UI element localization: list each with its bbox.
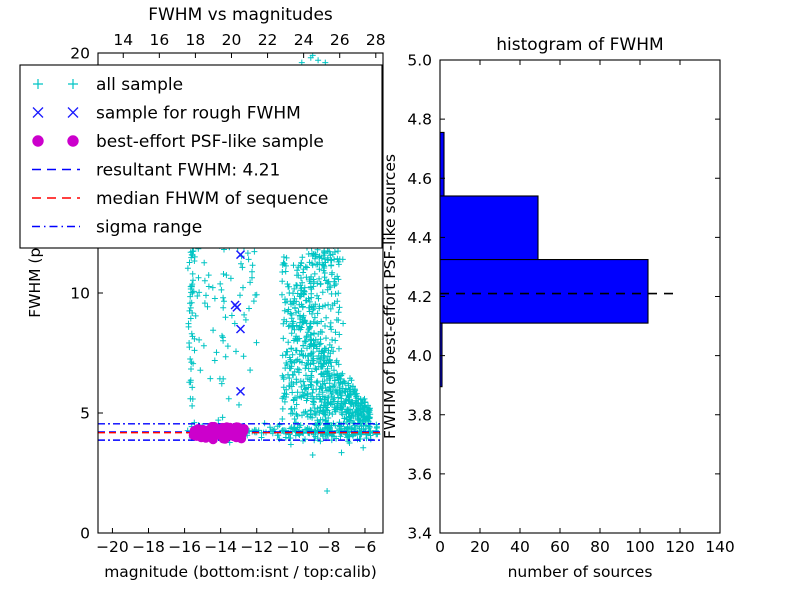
- legend-item-label: best-effort PSF-like sample: [96, 132, 324, 152]
- scatter-xlabel: magnitude (bottom:isnt / top:calib): [104, 563, 377, 581]
- legend-item-label: median FHWM of sequence: [96, 189, 328, 209]
- hist-xticklabel: 140: [705, 538, 735, 556]
- hist-xticklabel: 80: [590, 538, 610, 556]
- histogram-ylabel: FWHM of best-effort PSF-like sources: [381, 154, 399, 439]
- legend-item-label: all sample: [96, 75, 183, 95]
- hist-yticklabel: 4.8: [407, 111, 432, 129]
- scatter-xticklabel: −8: [317, 538, 340, 556]
- scatter-xticklabel: −14: [204, 538, 237, 556]
- scatter-xticklabel: −12: [240, 538, 273, 556]
- hist-xticklabel: 20: [470, 538, 490, 556]
- scatter-top-xticklabel: 28: [366, 31, 386, 49]
- histogram-bar: [440, 260, 648, 324]
- psf-sample-marker: [194, 425, 202, 433]
- scatter-yticklabel: 0: [80, 525, 90, 543]
- scatter-xticklabel: −16: [168, 538, 201, 556]
- hist-yticklabel: 3.4: [407, 525, 432, 543]
- psf-sample-marker: [227, 431, 235, 439]
- hist-yticklabel: 5.0: [407, 52, 432, 70]
- scatter-xticklabel: −18: [132, 538, 165, 556]
- psf-sample-marker: [210, 427, 218, 435]
- histogram-bar: [440, 196, 538, 260]
- scatter-yticklabel: 20: [70, 45, 90, 63]
- hist-yticklabel: 4.4: [407, 229, 432, 247]
- legend-circle-icon: [68, 136, 78, 146]
- scatter-top-xticklabel: 16: [149, 31, 169, 49]
- hist-yticklabel: 4.0: [407, 347, 432, 365]
- scatter-top-xticklabel: 22: [258, 31, 278, 49]
- histogram-title: histogram of FWHM: [496, 35, 663, 55]
- histogram-bar: [440, 132, 444, 196]
- legend-circle-icon: [33, 136, 43, 146]
- hist-xticklabel: 100: [625, 538, 655, 556]
- histogram-panel: 0204060801001201403.43.63.84.04.24.44.64…: [381, 35, 735, 581]
- scatter-top-xticklabel: 14: [113, 31, 133, 49]
- scatter-xticklabel: −10: [276, 538, 309, 556]
- hist-xticklabel: 40: [510, 538, 530, 556]
- histogram-bars: [440, 132, 648, 386]
- scatter-top-xticklabel: 26: [330, 31, 350, 49]
- legend-item-label: sample for rough FWHM: [96, 104, 301, 124]
- hist-yticklabel: 4.2: [407, 288, 432, 306]
- scatter-yticklabel: 5: [80, 405, 90, 423]
- figure-svg: −20−18−16−14−12−10−8−6141618202224262805…: [0, 0, 800, 600]
- scatter-xticklabel: −6: [354, 538, 377, 556]
- psf-sample-marker: [218, 431, 226, 439]
- legend-item-label: resultant FWHM: 4.21: [96, 161, 280, 181]
- hist-xticklabel: 0: [435, 538, 445, 556]
- psf-sample-marker: [197, 433, 205, 441]
- histogram-xlabel: number of sources: [508, 563, 653, 581]
- hist-yticklabel: 3.6: [407, 465, 432, 483]
- hist-yticklabel: 3.8: [407, 406, 432, 424]
- scatter-top-xticklabel: 24: [294, 31, 314, 49]
- scatter-top-xticklabel: 18: [186, 31, 206, 49]
- hist-yticklabel: 4.6: [407, 170, 432, 188]
- scatter-top-xticklabel: 20: [222, 31, 242, 49]
- scatter-xticklabel: −20: [96, 538, 129, 556]
- legend: all samplesample for rough FWHMbest-effo…: [20, 65, 382, 248]
- scatter-yticklabel: 10: [70, 285, 90, 303]
- scatter-title: FWHM vs magnitudes: [148, 5, 333, 25]
- hist-xticklabel: 60: [550, 538, 570, 556]
- figure-canvas: −20−18−16−14−12−10−8−6141618202224262805…: [0, 0, 800, 600]
- legend-item-label: sigma range: [96, 218, 202, 238]
- hist-xticklabel: 120: [665, 538, 695, 556]
